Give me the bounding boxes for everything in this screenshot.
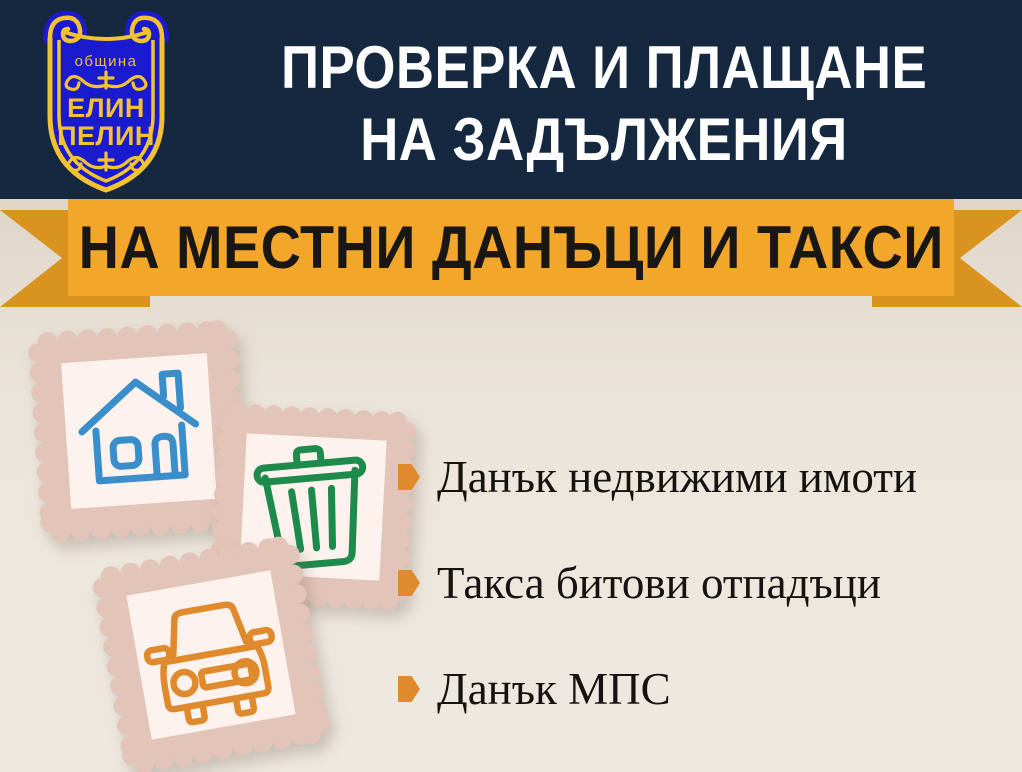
arrow-bullet-icon	[398, 676, 420, 702]
list-item-label: Данък МПС	[437, 664, 671, 714]
title-line-1: ПРОВЕРКА И ПЛАЩАНЕ	[281, 32, 927, 104]
ribbon-text: НА МЕСТНИ ДАНЪЦИ И ТАКСИ	[78, 216, 943, 280]
title-line-2: НА ЗАДЪЛЖЕНИЯ	[360, 104, 847, 176]
crest-label-line-2: ПЕЛИН	[57, 121, 155, 151]
poster-canvas: община ЕЛИН ПЕЛИН ПРОВЕРКА И П	[0, 0, 1022, 772]
crest-label-top: община	[75, 53, 138, 70]
stamp-card-vehicle	[86, 530, 336, 772]
list-item-label: Данък недвижими имоти	[437, 452, 917, 502]
elin-pelin-coat-of-arms: община ЕЛИН ПЕЛИН	[30, 8, 182, 194]
subtitle-ribbon: НА МЕСТНИ ДАНЪЦИ И ТАКСИ	[0, 199, 1022, 307]
poster-title: ПРОВЕРКА И ПЛАЩАНЕ НА ЗАДЪЛЖЕНИЯ	[186, 14, 1022, 194]
ribbon-band: НА МЕСТНИ ДАНЪЦИ И ТАКСИ	[68, 199, 954, 296]
list-item-label: Такса битови отпадъци	[437, 558, 881, 608]
arrow-bullet-icon	[398, 570, 420, 596]
arrow-bullet-icon	[398, 464, 420, 490]
crest-label-line-1: ЕЛИН	[67, 93, 145, 123]
list-item[interactable]: Данък недвижими имоти	[398, 424, 1012, 530]
list-item[interactable]: Такса битови отпадъци	[398, 530, 1012, 636]
list-item[interactable]: Данък МПС	[398, 636, 1012, 742]
services-list: Данък недвижими имоти Такса битови отпад…	[398, 424, 1012, 742]
